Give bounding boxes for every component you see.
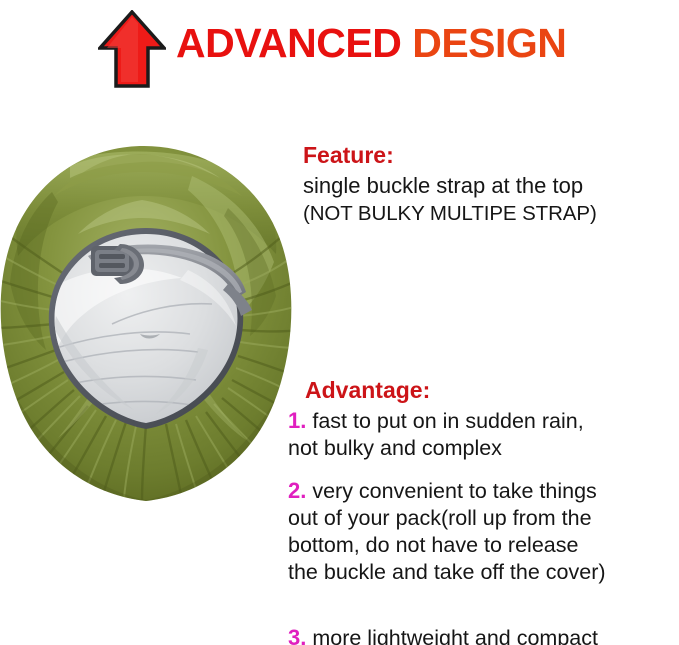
advantage-item-2-text-1: very convenient to take things [312,479,596,503]
backpack-rain-cover-photo [0,138,300,513]
product-feature-infographic: ADVANCED DESIGN [0,0,679,645]
advantage-item-2-line-2: out of your pack(roll up from the [288,505,679,532]
header-banner: ADVANCED DESIGN [0,0,679,100]
advantage-heading: Advantage: [305,375,679,405]
feature-section: Feature: single buckle strap at the top … [288,140,679,228]
feature-line-2: (NOT BULKY MULTIPE STRAP) [303,200,679,228]
advantage-item-1-line-1: 1. fast to put on in sudden rain, [288,407,679,435]
arrow-up-icon [98,10,166,88]
page-title: ADVANCED DESIGN [176,19,566,67]
advantage-item-1-number: 1. [288,408,306,433]
advantage-item-3-number: 3. [288,625,306,645]
advantage-item-3-line-1: 3. more lightweight and compact [288,624,679,645]
advantage-item-3-text-1: more lightweight and compact [312,626,598,645]
advantage-item-2-number: 2. [288,478,306,503]
advantage-item-2-line-1: 2. very convenient to take things [288,477,679,505]
advantage-item-2: 2. very convenient to take things out of… [288,477,679,586]
text-column: Feature: single buckle strap at the top … [288,140,679,228]
title-word-advanced: ADVANCED [176,20,401,66]
feature-line-1: single buckle strap at the top [303,172,679,200]
advantage-item-3: 3. more lightweight and compact [288,624,679,645]
title-word-design: DESIGN [412,20,566,66]
advantage-item-2-line-4: the buckle and take off the cover) [288,559,679,586]
advantage-item-1-line-2: not bulky and complex [288,435,679,462]
advantage-item-2-line-3: bottom, do not have to release [288,532,679,559]
advantage-section: Advantage: 1. fast to put on in sudden r… [288,375,679,645]
advantage-item-1-text-1: fast to put on in sudden rain, [312,409,583,433]
feature-heading: Feature: [303,140,679,170]
advantage-item-1: 1. fast to put on in sudden rain, not bu… [288,407,679,462]
